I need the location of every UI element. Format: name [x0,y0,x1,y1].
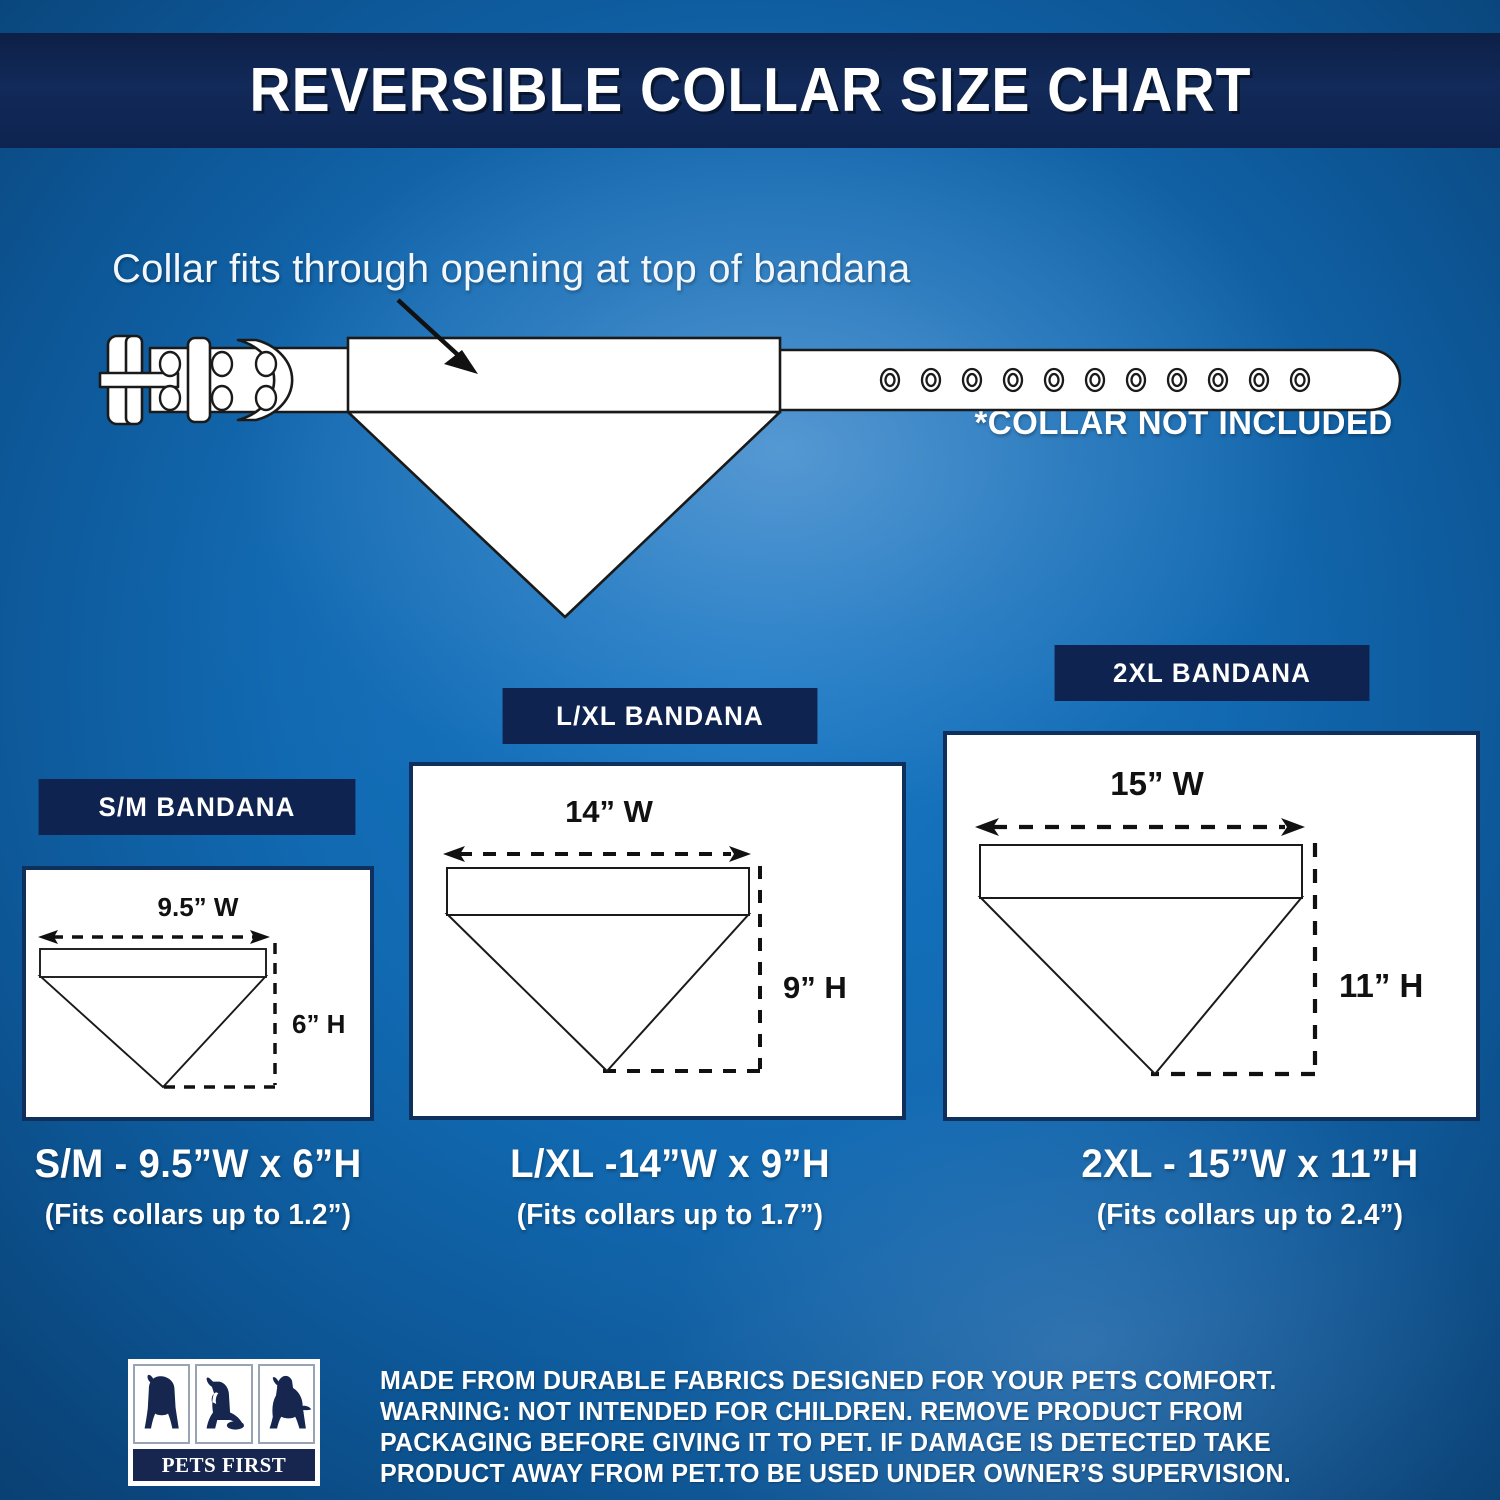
panel-2xl-caption: 2XL - 15”W x 11”H (Fits collars up to 2.… [1015,1142,1485,1232]
bandana-triangle [348,412,780,617]
collar-hole [1168,369,1186,391]
collar-bandana-illustration [0,150,1500,650]
disclaimer-line-1: MADE FROM DURABLE FABRICS DESIGNED FOR Y… [380,1366,1370,1397]
panel-sm-card: 9.5” W 6” H [22,866,374,1121]
collar-hole [1045,369,1063,391]
buckle-hole [256,352,276,376]
disclaimer-line-2: WARNING: NOT INTENDED FOR CHILDREN. REMO… [380,1397,1370,1428]
panel-lxl-caption-sub: (Fits collars up to 1.7”) [478,1199,862,1232]
panel-sm-diagram: 9.5” W 6” H [26,870,370,1117]
disclaimer-line-4: PRODUCT AWAY FROM PET.TO BE USED UNDER O… [380,1459,1370,1490]
panel-lxl-arrow-right [729,846,751,862]
panel-lxl-tab: L/XL BANDANA [503,688,818,744]
panel-2xl-caption-sub: (Fits collars up to 2.4”) [1024,1199,1475,1232]
panel-2xl-diagram: 15” W 11” H [947,735,1476,1117]
panel-sm-tab: S/M BANDANA [39,779,356,835]
logo-wordmark: PETS FIRST [133,1449,315,1481]
buckle-hole [160,352,180,376]
collar-hole [881,369,899,391]
buckle-hole [212,386,232,410]
buckle-hole [160,386,180,410]
collar-hole [1291,369,1309,391]
panel-lxl-height-label: 9” H [783,970,847,1005]
collar-hole [963,369,981,391]
collar-hole [1209,369,1227,391]
panel-sm-caption: S/M - 9.5”W x 6”H (Fits collars up to 1.… [12,1142,384,1232]
page-title: REVERSIBLE COLLAR SIZE CHART [249,55,1251,126]
collar-strap-left [150,348,360,412]
panel-2xl-card: 15” W 11” H [943,731,1480,1121]
panel-lxl-width-label: 14” W [565,794,654,829]
panel-2xl-caption-main: 2XL - 15”W x 11”H [1024,1142,1475,1187]
logo-dog-sitting-icon [133,1364,190,1444]
logo-dog-begging-icon [195,1364,252,1444]
header-band: REVERSIBLE COLLAR SIZE CHART [0,33,1500,148]
collar-hole [1250,369,1268,391]
collar-keeper-loop-1 [188,338,210,422]
collar-hole [1004,369,1022,391]
panel-2xl-tab: 2XL BANDANA [1055,645,1370,701]
logo-dog-standing-icon [258,1364,315,1444]
buckle-hole [256,386,276,410]
disclaimer-line-3: PACKAGING BEFORE GIVING IT TO PET. IF DA… [380,1428,1370,1459]
panel-2xl-width-label: 15” W [1110,765,1204,802]
footer-disclaimer: MADE FROM DURABLE FABRICS DESIGNED FOR Y… [380,1366,1370,1490]
size-chart-page: REVERSIBLE COLLAR SIZE CHART Collar fits… [0,0,1500,1500]
panel-lxl-card: 14” W 9” H [409,762,906,1120]
collar-hole [1127,369,1145,391]
panel-sm-width-label: 9.5” W [158,892,239,922]
panel-sm-caption-sub: (Fits collars up to 1.2”) [19,1199,376,1232]
panel-2xl-height-label: 11” H [1339,967,1423,1004]
panel-sm-caption-main: S/M - 9.5”W x 6”H [19,1142,376,1187]
panel-lxl-diagram: 14” W 9” H [413,766,902,1116]
panel-lxl-caption-main: L/XL -14”W x 9”H [478,1142,862,1187]
bandana-sleeve [348,338,780,412]
collar-hole [1086,369,1104,391]
collar-hole [922,369,940,391]
pets-first-logo: PETS FIRST [128,1359,320,1486]
panel-sm-height-label: 6” H [292,1009,345,1039]
buckle-hole [212,352,232,376]
panel-lxl-caption: L/XL -14”W x 9”H (Fits collars up to 1.7… [470,1142,870,1232]
